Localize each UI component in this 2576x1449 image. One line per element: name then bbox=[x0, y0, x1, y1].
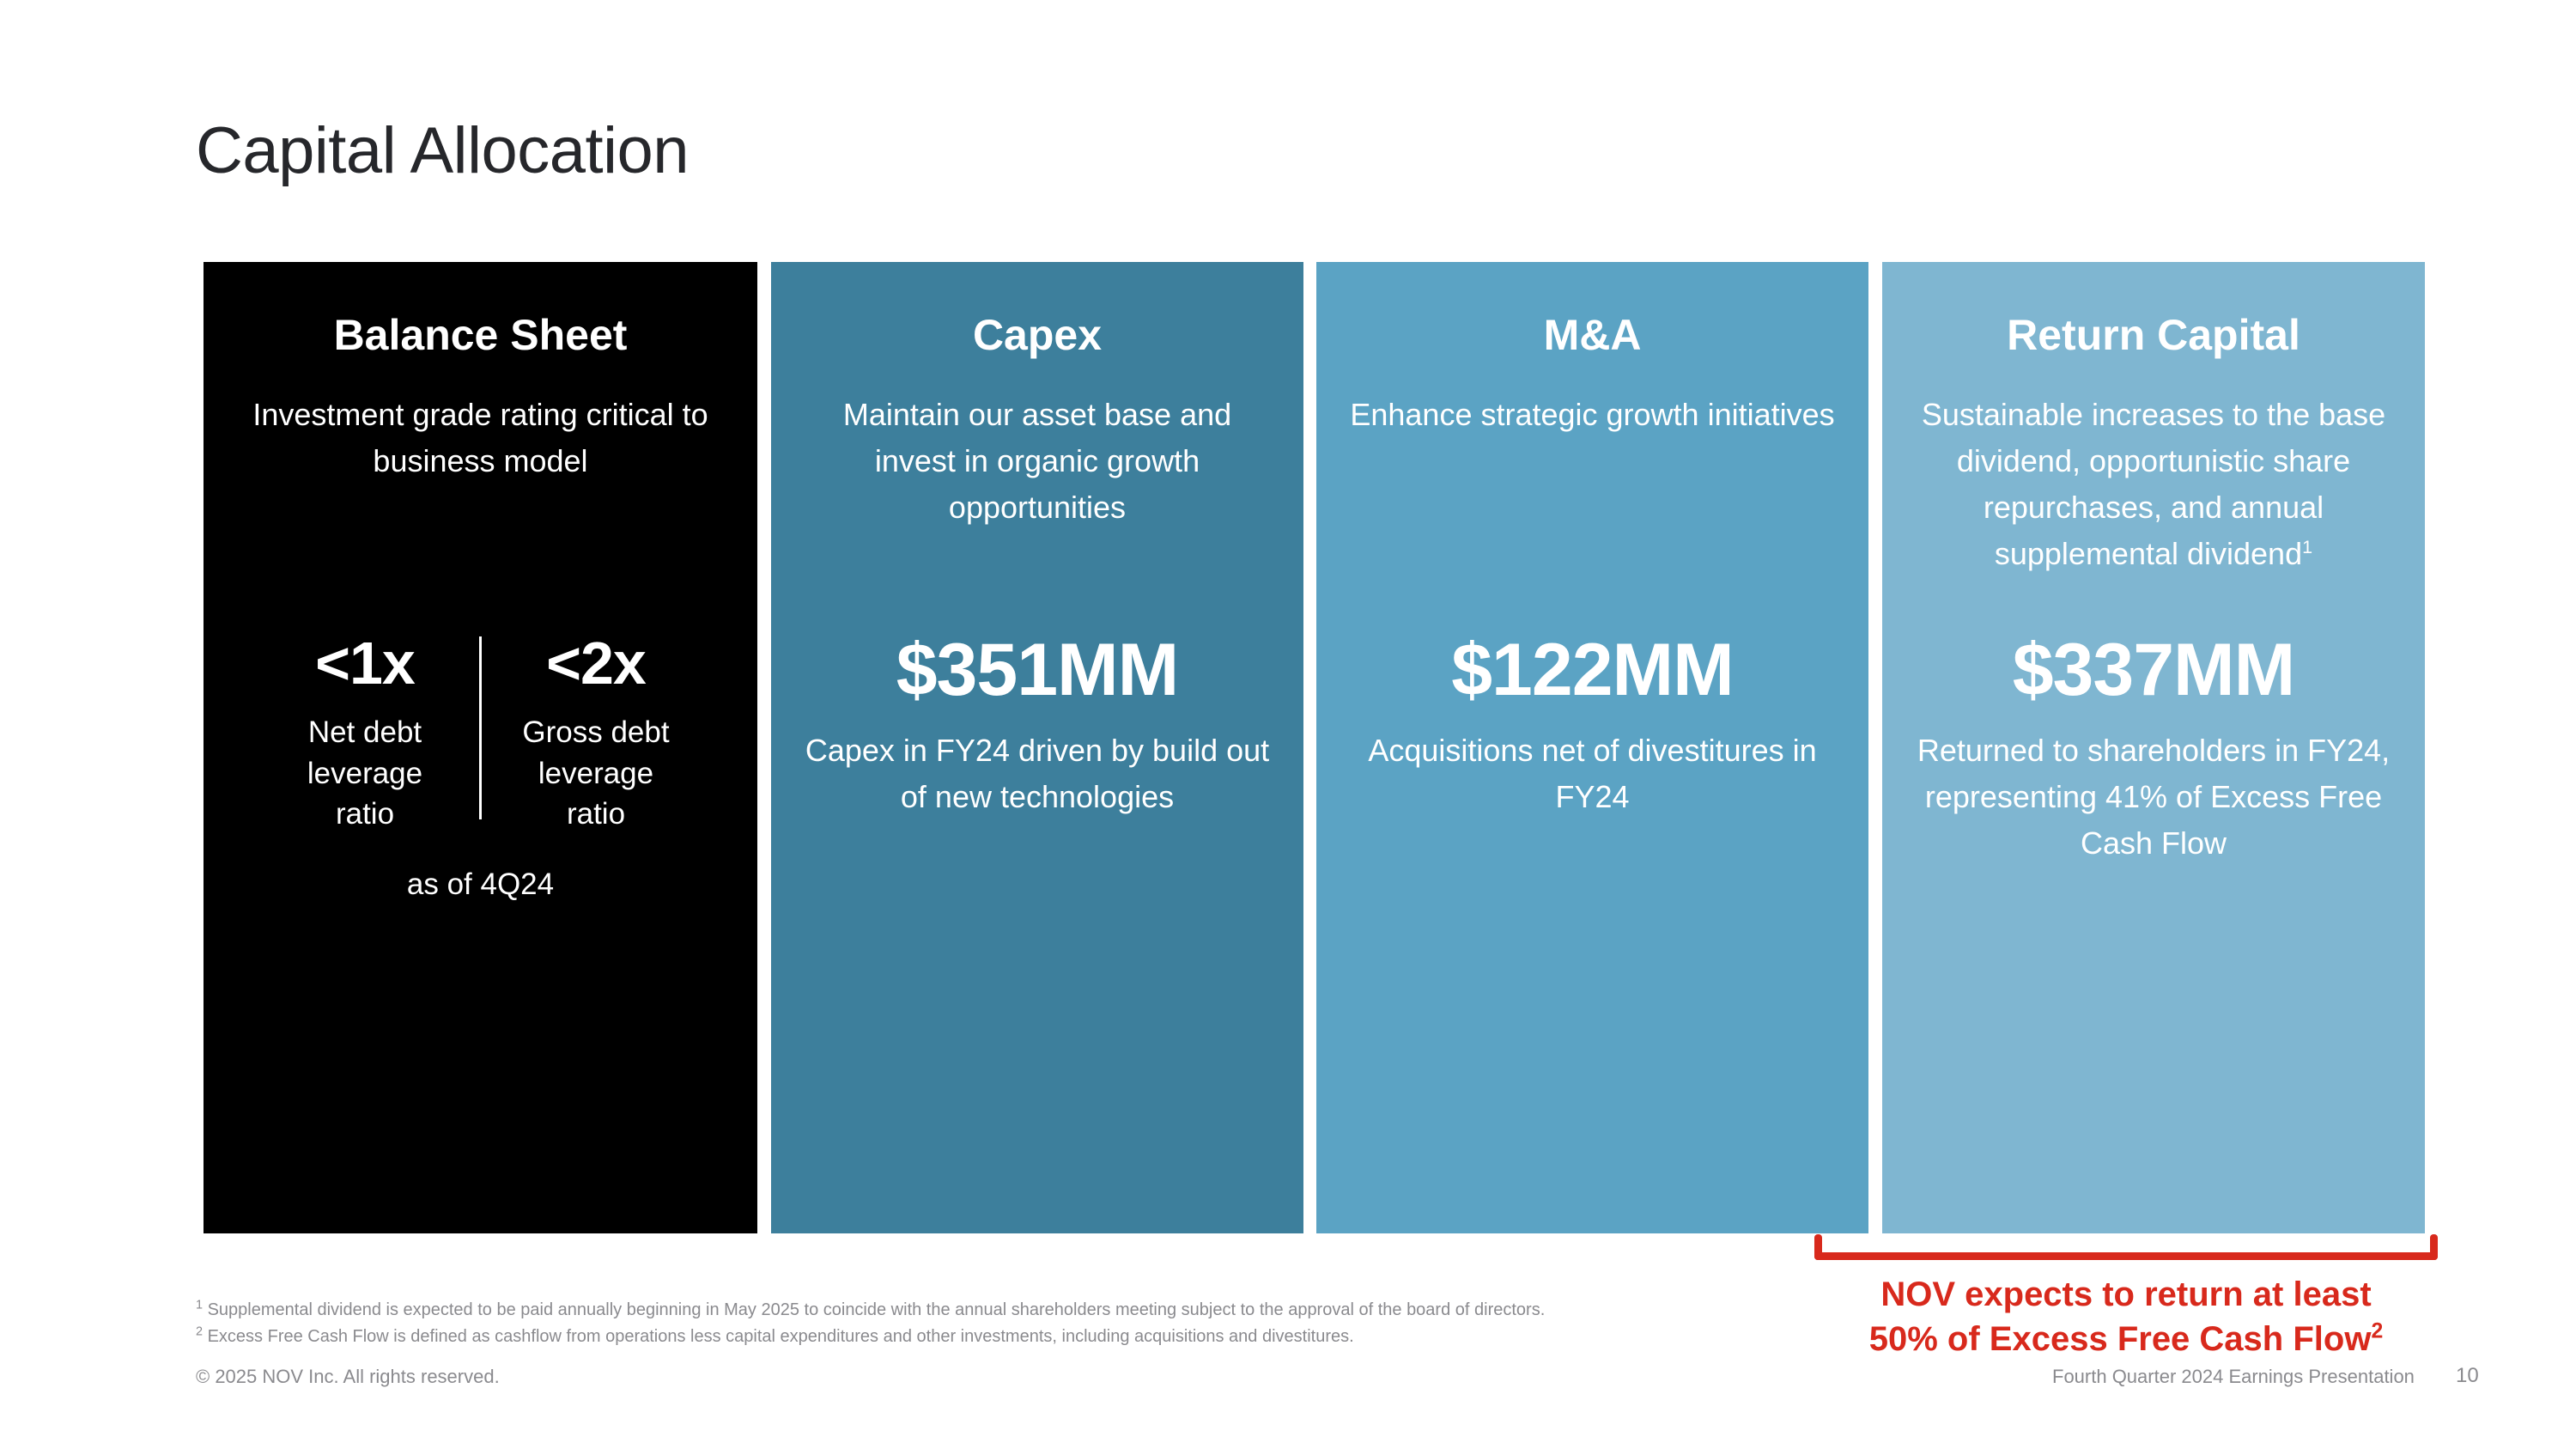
footnote-marker: 1 bbox=[196, 1298, 203, 1312]
panel-figure-caption: Acquisitions net of divestitures in FY24 bbox=[1316, 728, 1868, 820]
page-title: Capital Allocation bbox=[196, 113, 689, 188]
panel-subtext: Investment grade rating critical to busi… bbox=[204, 392, 757, 484]
panel-figure-caption: Capex in FY24 driven by build out of new… bbox=[771, 728, 1303, 820]
panel-heading: M&A bbox=[1544, 312, 1642, 359]
panel-metric-block: $122MM Acquisitions net of divestitures … bbox=[1316, 633, 1868, 820]
leverage-ratio-row: <1x Net debt leverage ratio <2x Gross de… bbox=[270, 633, 691, 835]
panel-figure: $351MM bbox=[896, 633, 1179, 709]
panel-metric-block: <1x Net debt leverage ratio <2x Gross de… bbox=[204, 633, 757, 902]
bracket-bar bbox=[1814, 1252, 2438, 1260]
panel-subtext: Maintain our asset base and invest in or… bbox=[771, 392, 1303, 531]
copyright-notice: © 2025 NOV Inc. All rights reserved. bbox=[196, 1366, 500, 1388]
net-debt-ratio: <1x Net debt leverage ratio bbox=[270, 633, 460, 835]
panel-metric-block: $351MM Capex in FY24 driven by build out… bbox=[771, 633, 1303, 820]
footnote-text: Excess Free Cash Flow is defined as cash… bbox=[208, 1327, 1354, 1346]
gross-debt-ratio: <2x Gross debt leverage ratio bbox=[501, 633, 691, 835]
panel-figure-caption: Returned to shareholders in FY24, repres… bbox=[1882, 728, 2425, 867]
bracket-tick-right bbox=[2430, 1234, 2438, 1260]
footnote-2: 2 Excess Free Cash Flow is defined as ca… bbox=[196, 1324, 1913, 1350]
net-debt-ratio-value: <1x bbox=[278, 633, 452, 693]
gross-debt-ratio-value: <2x bbox=[509, 633, 683, 693]
callout-bracket-icon bbox=[1814, 1234, 2438, 1260]
footnote-text: Supplemental dividend is expected to be … bbox=[208, 1300, 1546, 1319]
panel-figure: $337MM bbox=[2013, 633, 2295, 709]
deck-name-footer: Fourth Quarter 2024 Earnings Presentatio… bbox=[2052, 1366, 2415, 1388]
panel-balance-sheet: Balance Sheet Investment grade rating cr… bbox=[204, 262, 757, 1233]
vertical-divider bbox=[479, 636, 482, 819]
slide-canvas: Capital Allocation Balance Sheet Investm… bbox=[0, 0, 2576, 1449]
footnotes: 1 Supplemental dividend is expected to b… bbox=[196, 1297, 1913, 1350]
capital-allocation-panels: Balance Sheet Investment grade rating cr… bbox=[204, 262, 2425, 1233]
panel-heading: Balance Sheet bbox=[334, 312, 628, 359]
panel-metric-block: $337MM Returned to shareholders in FY24,… bbox=[1882, 633, 2425, 867]
panel-subtext: Sustainable increases to the base divide… bbox=[1882, 392, 2425, 577]
as-of-label: as of 4Q24 bbox=[407, 868, 554, 902]
footnote-marker: 2 bbox=[196, 1324, 203, 1338]
page-number: 10 bbox=[2456, 1364, 2479, 1388]
panel-mergers-acquisitions: M&A Enhance strategic growth initiatives… bbox=[1316, 262, 1868, 1233]
panel-subtext: Enhance strategic growth initiatives bbox=[1321, 392, 1863, 438]
panel-figure: $122MM bbox=[1451, 633, 1734, 709]
panel-return-capital: Return Capital Sustainable increases to … bbox=[1882, 262, 2425, 1233]
net-debt-ratio-label: Net debt leverage ratio bbox=[278, 712, 452, 835]
panel-capex: Capex Maintain our asset base and invest… bbox=[771, 262, 1303, 1233]
panel-heading: Return Capital bbox=[2007, 312, 2300, 359]
footnote-1: 1 Supplemental dividend is expected to b… bbox=[196, 1297, 1913, 1324]
gross-debt-ratio-label: Gross debt leverage ratio bbox=[509, 712, 683, 835]
panel-heading: Capex bbox=[973, 312, 1102, 359]
